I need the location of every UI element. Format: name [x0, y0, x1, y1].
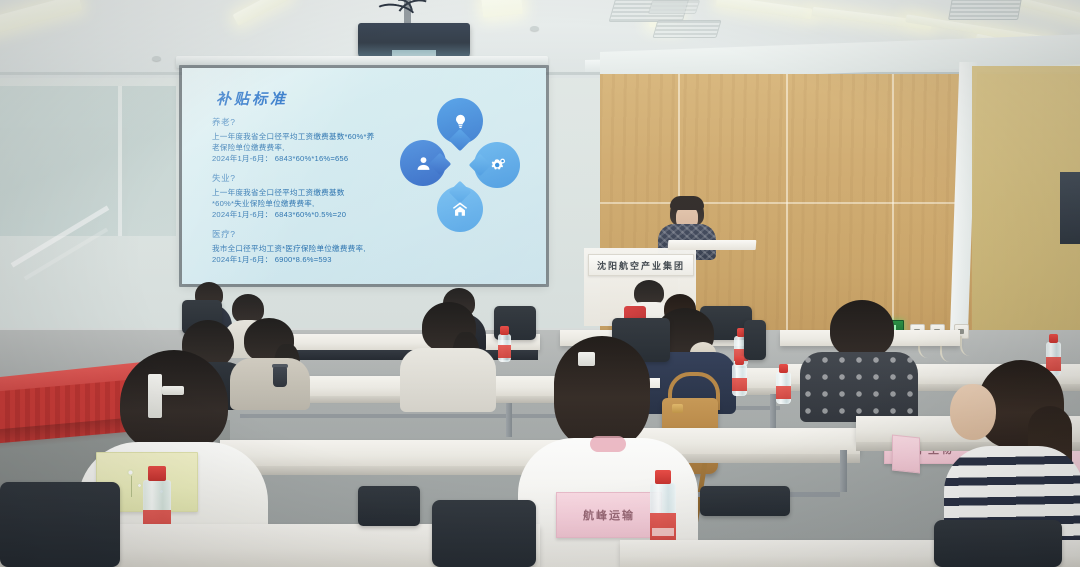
water-bottle	[498, 326, 511, 362]
slide-block-line: 2024年1月-6月： 6843*60%*0.5%=20	[212, 209, 346, 220]
bottle-label-stripe	[652, 528, 674, 535]
bottle-cap	[1049, 334, 1059, 343]
slide-block-line: 2024年1月-6月： 6900*8.6%=593	[212, 254, 366, 265]
presenter-fringe	[670, 196, 704, 210]
bottle-label	[498, 345, 511, 357]
bottle-cap	[779, 364, 789, 373]
projection-screen: 补贴标准 养老? 上一年度我省全口径平均工资缴费基数*60%*养 老保险单位缴费…	[182, 68, 546, 284]
desk-leg	[506, 403, 512, 437]
attendee-person	[800, 300, 918, 416]
hair	[830, 300, 894, 358]
slide-title: 补贴标准	[216, 88, 288, 109]
bottle-label	[776, 386, 791, 400]
table-name-card	[892, 435, 920, 474]
chair-back	[358, 486, 420, 526]
slide-block-line: 上一年度我省全口径平均工资缴费基数*60%*养	[212, 131, 374, 142]
attendee-person	[400, 302, 496, 408]
smoke-detector-icon	[530, 26, 539, 31]
hair-clip	[578, 352, 595, 366]
chair-back	[0, 482, 120, 567]
flower-stem	[131, 475, 132, 497]
wall-display-panel	[1060, 172, 1080, 244]
chair-back	[744, 320, 766, 360]
torso	[400, 348, 496, 412]
torso	[800, 352, 918, 422]
slide-icon-cluster	[400, 98, 532, 258]
table-name-card: 航峰运输	[556, 492, 662, 538]
glass-partition	[0, 86, 176, 236]
bottle-cap	[500, 326, 508, 335]
bottle-cap	[655, 470, 672, 484]
hvac-vent	[652, 20, 721, 38]
wood-panel-seam	[600, 202, 960, 204]
slide-block-line: 我市全口径平均工资*医疗保险单位缴费费率,	[212, 243, 366, 254]
hair	[554, 336, 650, 448]
person-icon	[400, 140, 446, 186]
chair-back	[432, 500, 536, 567]
podium-top	[668, 240, 757, 250]
chair-back	[700, 486, 790, 516]
desk-rail	[240, 414, 560, 418]
slide-block-line: 老保险单位缴费费率,	[212, 142, 374, 153]
conference-room-photo: 补贴标准 养老? 上一年度我省全口径平均工资缴费基数*60%*养 老保险单位缴费…	[0, 0, 1080, 567]
hair-clip	[162, 386, 184, 395]
drink-cup	[273, 367, 287, 387]
hair	[120, 350, 228, 452]
collar-accent	[590, 436, 626, 452]
smoke-detector-icon	[152, 56, 161, 61]
slide-block-heading: 失业?	[212, 172, 346, 184]
slide-text-block-unemployment: 失业? 上一年度我省全口径平均工资缴费基数 *60%*失业保险单位缴费费率, 2…	[212, 172, 346, 220]
hvac-vent	[948, 0, 1022, 20]
bottle-label	[732, 378, 747, 392]
podium-sign: 沈阳航空产业集团	[588, 254, 694, 276]
hvac-vent	[648, 0, 701, 14]
slide-text-block-pension: 养老? 上一年度我省全口径平均工资缴费基数*60%*养 老保险单位缴费费率, 2…	[212, 116, 374, 164]
lightbulb-icon	[437, 98, 483, 144]
name-card-text: 航峰运输	[583, 507, 635, 523]
glass-mullion	[118, 86, 122, 236]
slide-block-line: 上一年度我省全口径平均工资缴费基数	[212, 187, 346, 198]
projection-screen-housing	[176, 56, 548, 68]
home-icon	[437, 186, 483, 232]
slide-text-block-medical: 医疗? 我市全口径平均工资*医疗保险单位缴费费率, 2024年1月-6月： 69…	[212, 228, 366, 265]
chair-back	[934, 520, 1062, 567]
slide-block-heading: 养老?	[212, 116, 374, 128]
hair-clip	[148, 374, 162, 418]
podium-sign-text: 沈阳航空产业集团	[597, 259, 685, 272]
wood-panel-seam	[786, 74, 788, 374]
flower-graphic	[127, 469, 134, 476]
bottle-cap	[735, 356, 745, 365]
power-cable	[960, 336, 976, 356]
water-bottle	[732, 356, 747, 396]
water-bottle	[776, 364, 791, 404]
slide-block-heading: 医疗?	[212, 228, 366, 240]
slide-block-line: *60%*失业保险单位缴费费率,	[212, 198, 346, 209]
bottle-cap	[148, 466, 166, 481]
flower-graphic	[137, 483, 142, 488]
desk-leg	[840, 450, 847, 492]
slide-block-line: 2024年1月-6月： 6843*60%*16%=656	[212, 153, 374, 164]
gears-icon	[474, 142, 520, 188]
head	[950, 384, 996, 440]
